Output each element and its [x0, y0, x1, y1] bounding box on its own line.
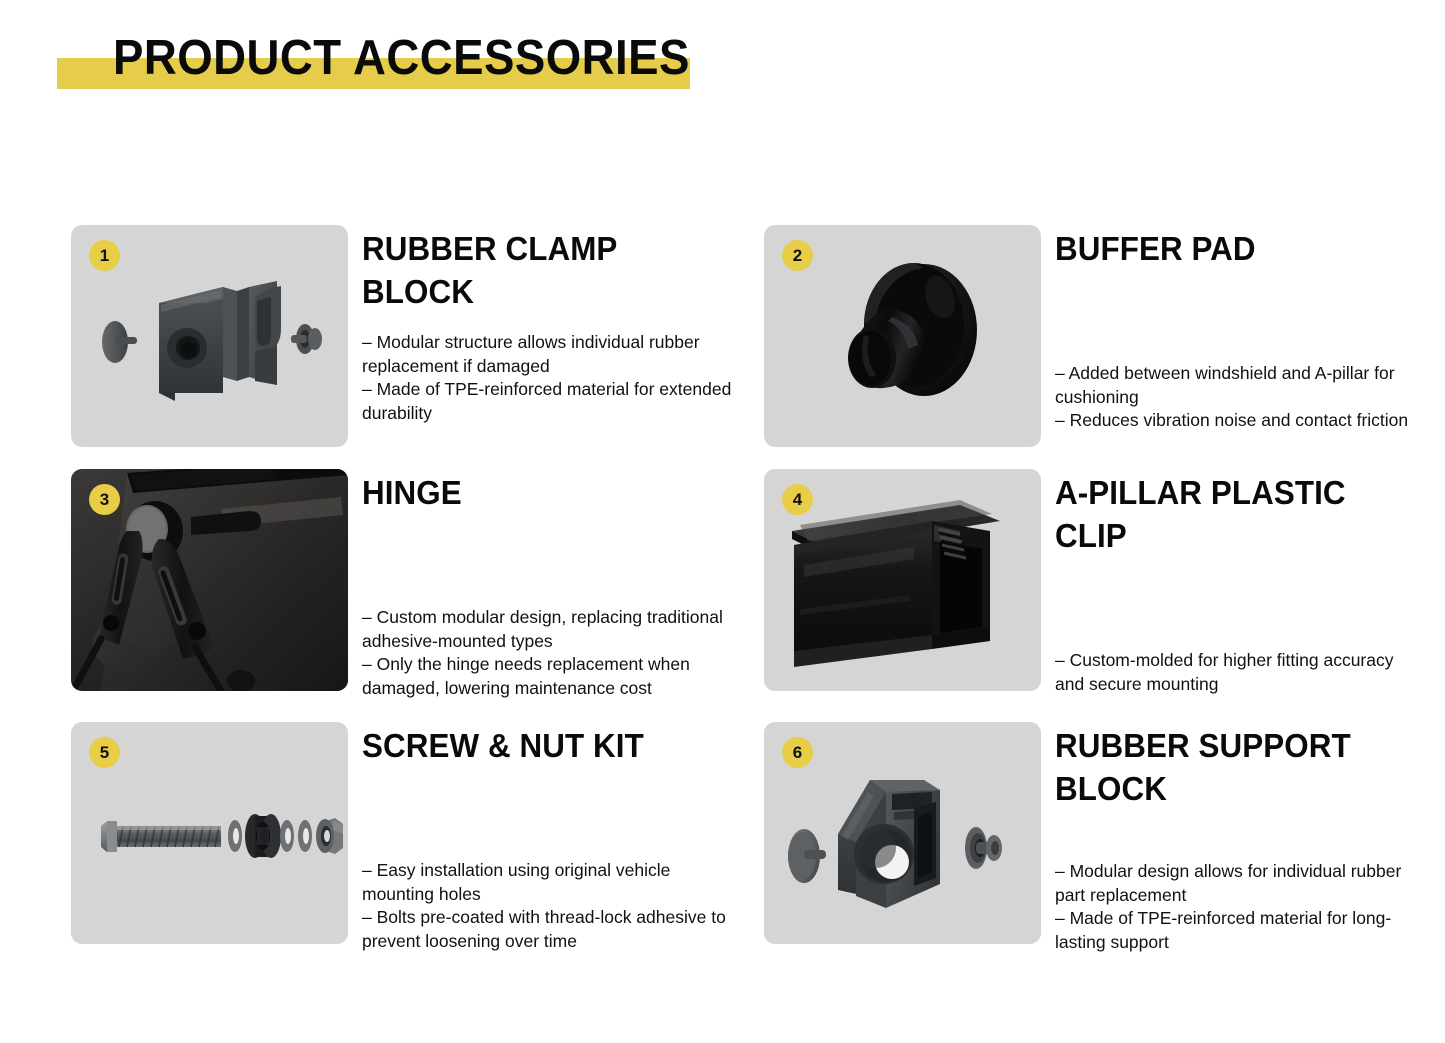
accessory-title: RUBBER CLAMP BLOCK [362, 227, 723, 313]
accessory-title: SCREW & NUT KIT [362, 724, 723, 767]
title-desc-spacer [362, 319, 742, 331]
item-number-badge: 5 [89, 737, 120, 768]
accessory-image-card-2: 2 [764, 225, 1041, 447]
accessory-image-card-4: 4 [764, 469, 1041, 691]
accessory-title: A-PILLAR PLASTIC CLIP [1055, 471, 1416, 557]
item-number-badge: 3 [89, 484, 120, 515]
accessory-text-5: SCREW & NUT KIT – Easy installation usin… [348, 722, 742, 954]
title-desc-spacer [1055, 563, 1435, 649]
title-desc-spacer [1055, 276, 1435, 362]
accessory-item-1: 1 [71, 225, 744, 447]
item-number-badge: 2 [782, 240, 813, 271]
accessory-description: – Easy installation using original vehic… [362, 859, 734, 953]
page-title: PRODUCT ACCESSORIES [113, 30, 690, 86]
accessory-item-4: 4 [764, 469, 1437, 700]
title-desc-spacer [1055, 816, 1435, 860]
accessory-text-2: BUFFER PAD – Added between windshield an… [1041, 225, 1435, 447]
title-desc-spacer [362, 520, 742, 606]
accessory-text-3: HINGE – Custom modular design, replacing… [348, 469, 742, 700]
accessory-description: – Added between windshield and A-pillar … [1055, 362, 1427, 433]
item-number-badge: 4 [782, 484, 813, 515]
accessory-description: – Custom-molded for higher fitting accur… [1055, 649, 1427, 696]
accessory-description: – Modular structure allows individual ru… [362, 331, 734, 425]
accessory-item-3: 3 HINGE – Custom modular design, replaci… [71, 469, 744, 700]
item-number-badge: 6 [782, 737, 813, 768]
accessory-description: – Custom modular design, replacing tradi… [362, 606, 734, 700]
accessory-title: HINGE [362, 471, 723, 514]
accessory-item-6: 6 [764, 722, 1437, 954]
accessories-row: 1 [71, 225, 1401, 447]
accessory-image-card-3: 3 [71, 469, 348, 691]
accessory-item-5: 5 [71, 722, 744, 954]
accessory-item-2: 2 [764, 225, 1437, 447]
accessory-title: BUFFER PAD [1055, 227, 1416, 270]
accessory-image-card-6: 6 [764, 722, 1041, 944]
accessory-image-card-1: 1 [71, 225, 348, 447]
accessory-image-card-5: 5 [71, 722, 348, 944]
accessory-title: RUBBER SUPPORT BLOCK [1055, 724, 1416, 810]
accessory-description: – Modular design allows for individual r… [1055, 860, 1427, 954]
accessory-text-6: RUBBER SUPPORT BLOCK – Modular design al… [1041, 722, 1435, 954]
accessory-text-1: RUBBER CLAMP BLOCK – Modular structure a… [348, 225, 742, 447]
accessory-text-4: A-PILLAR PLASTIC CLIP – Custom-molded fo… [1041, 469, 1435, 700]
page-title-block: PRODUCT ACCESSORIES [57, 30, 757, 100]
item-number-badge: 1 [89, 240, 120, 271]
accessories-grid: 1 [71, 225, 1401, 976]
title-desc-spacer [362, 773, 742, 859]
accessories-row: 3 HINGE – Custom modular design, replaci… [71, 469, 1401, 700]
accessories-row: 5 [71, 722, 1401, 954]
